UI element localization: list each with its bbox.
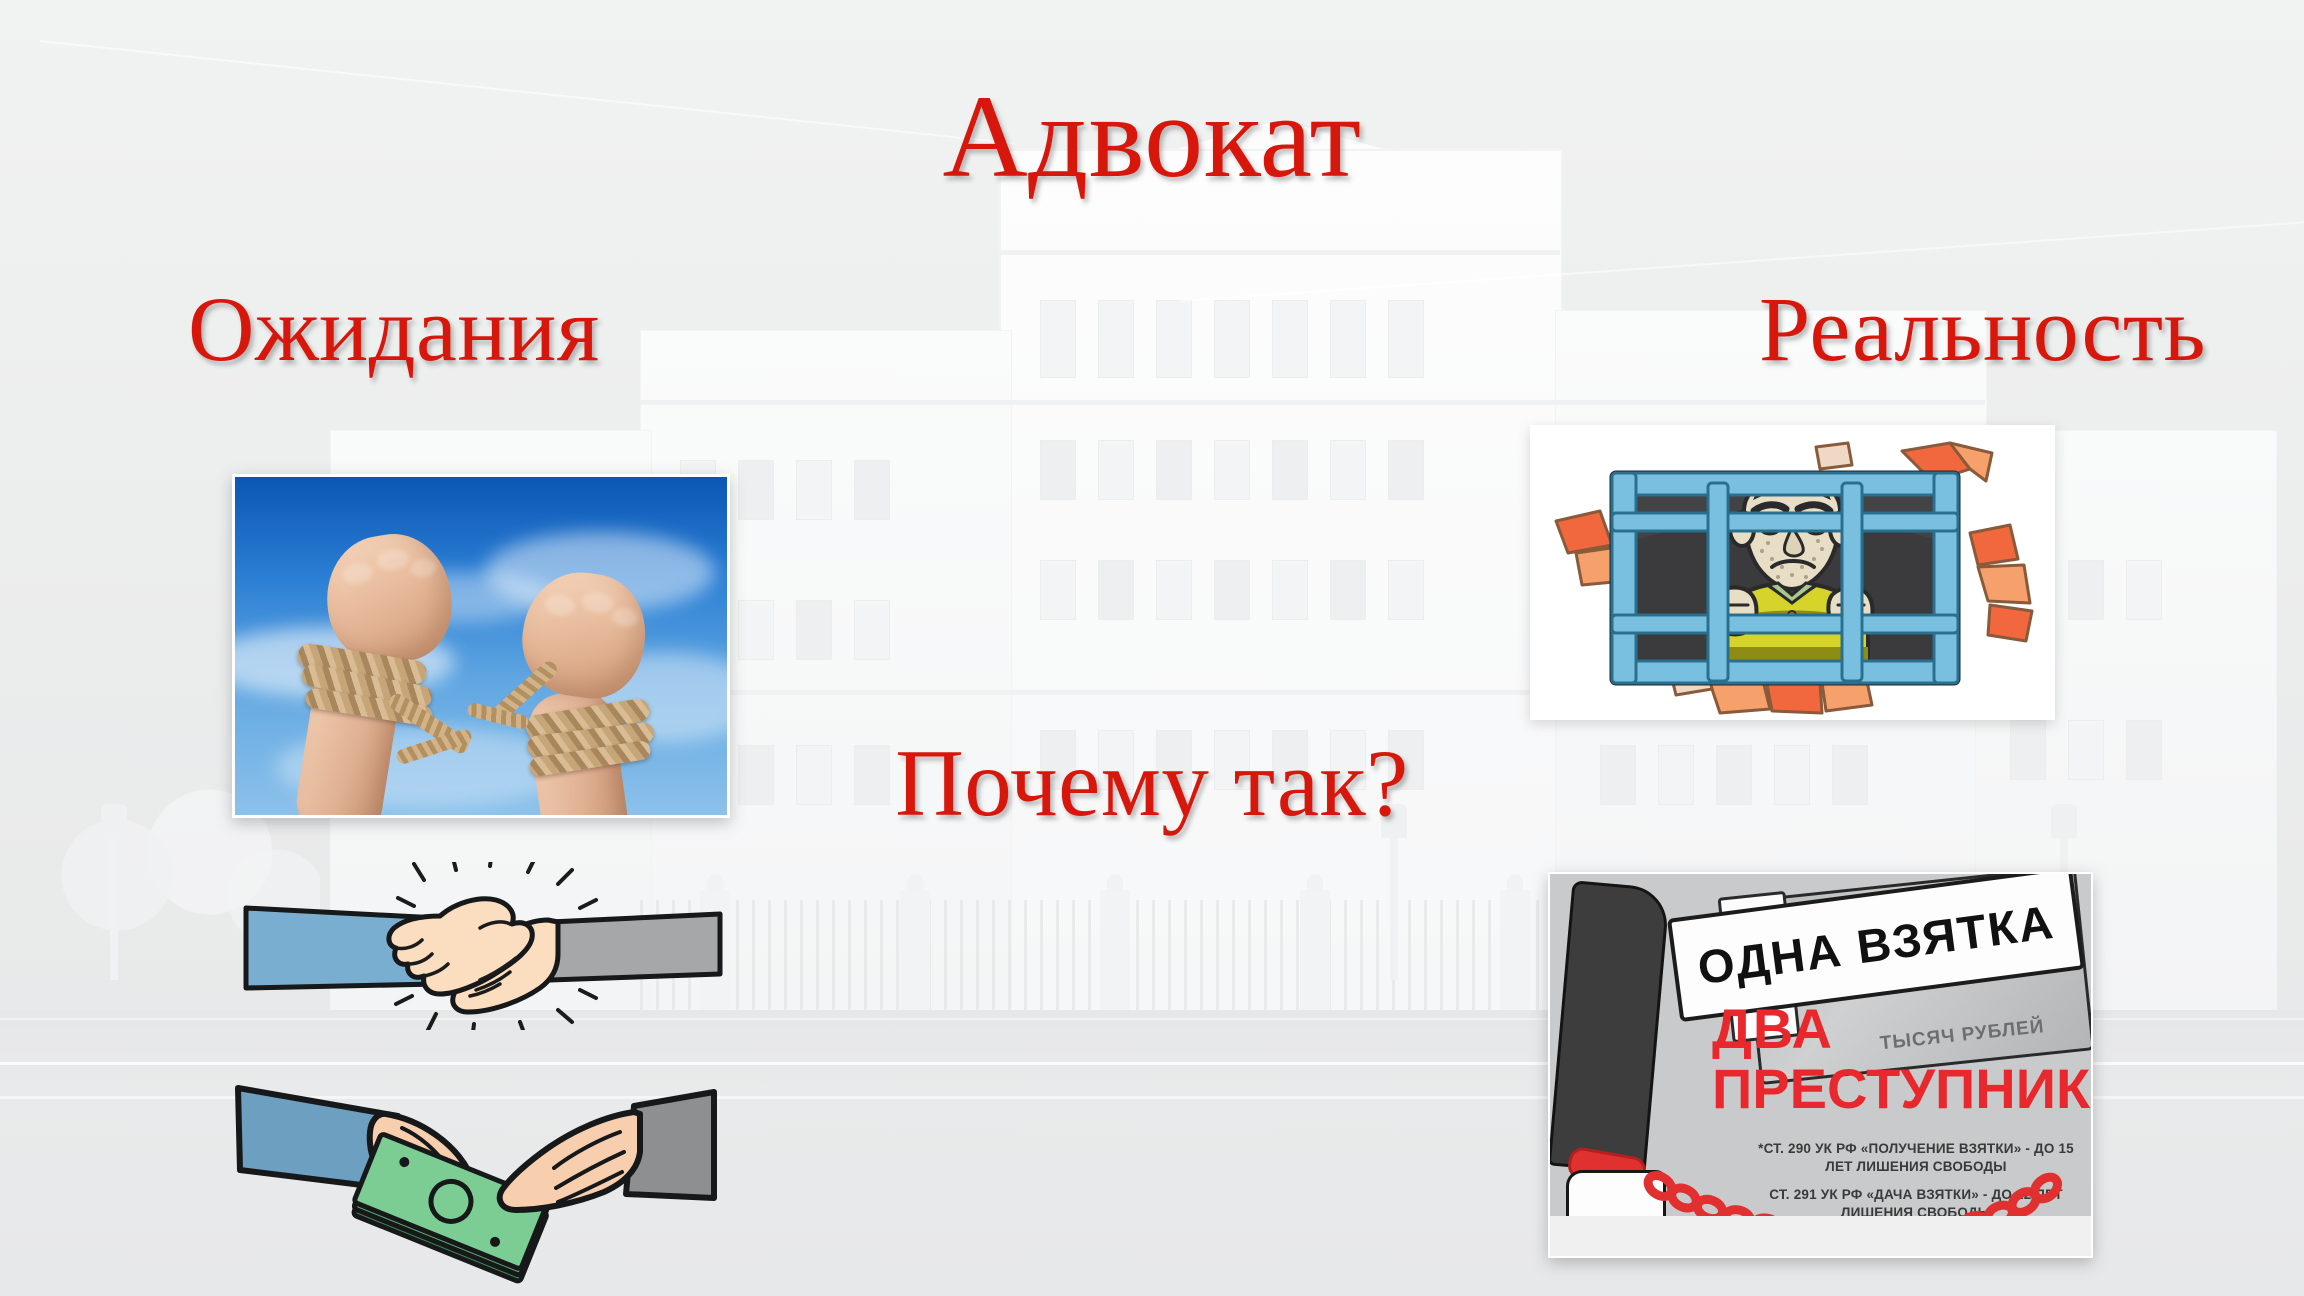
label-reality: Реальность (1759, 283, 2206, 375)
label-expectations: Ожидания (188, 283, 600, 375)
poster-headline-line2: ПРЕСТУПНИКА* (1712, 1062, 2093, 1115)
building-main (1000, 150, 1562, 1012)
bribe-money-illustration (210, 1058, 740, 1296)
poster-headline-line1: ДВА (1712, 1002, 1833, 1055)
fence-pillar (900, 890, 930, 1010)
building-cornice (1000, 250, 1560, 255)
window-row (1040, 440, 1424, 500)
broken-ropes-photo (232, 474, 730, 818)
presentation-slide: Адвокат Ожидания Реальность Почему так? (0, 0, 2304, 1296)
bribe-poster: 5000 ТЫСЯЧ РУБЛЕЙ ОДНА ВЗЯТКА ДВА ПРЕСТУ… (1548, 872, 2093, 1258)
street-lamp (110, 830, 118, 980)
street-lamp (1390, 830, 1398, 980)
poster-footnote-1: *СТ. 290 УК РФ «ПОЛУЧЕНИЕ ВЗЯТКИ» - ДО 1… (1746, 1140, 2086, 1176)
window-row (1040, 560, 1424, 620)
window-row (1040, 300, 1424, 378)
handshake-illustration (228, 862, 738, 1030)
fence-pillar (1300, 890, 1330, 1010)
prisoner-behind-bars-illustration (1530, 425, 2055, 720)
poster-bottom-bar (1550, 1216, 2091, 1256)
fence-pillar (1100, 890, 1130, 1010)
question-why-so: Почему так? (895, 736, 1409, 831)
page-title: Адвокат (942, 78, 1361, 196)
banknote-caption: ТЫСЯЧ РУБЛЕЙ (1879, 1016, 2046, 1055)
building-cornice (640, 400, 1985, 405)
window-row (1600, 745, 1868, 805)
fence-pillar (1500, 890, 1530, 1010)
window-row (2010, 720, 2162, 780)
background-wire (40, 40, 1015, 144)
